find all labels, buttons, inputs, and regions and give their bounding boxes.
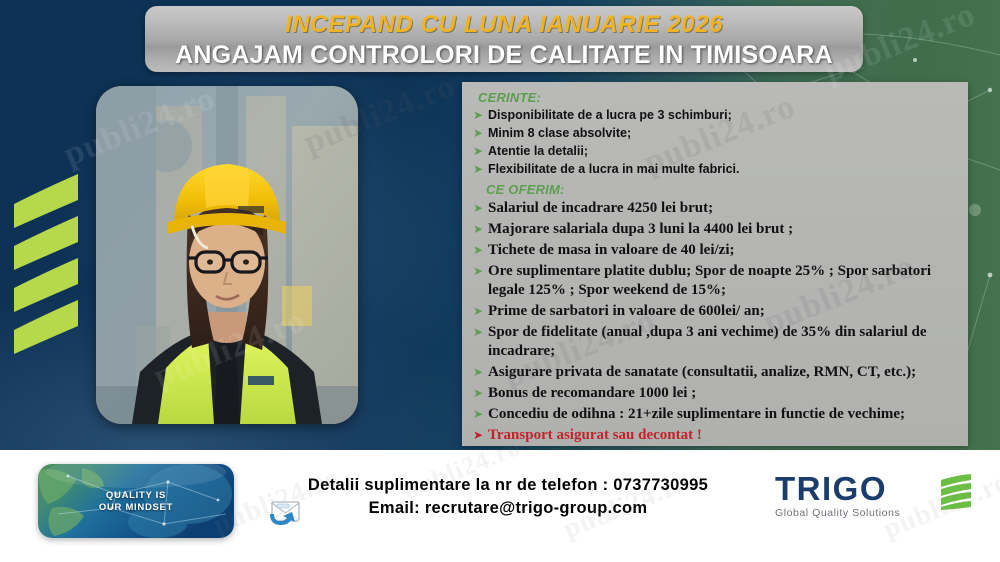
arrow-bullet-icon: ➤	[468, 405, 488, 424]
list-item: ➤ Asigurare privata de sanatate (consult…	[468, 363, 962, 382]
list-item: ➤ Flexibilitate de a lucra in mai multe …	[468, 161, 962, 178]
arrow-bullet-icon: ➤	[468, 302, 488, 321]
arrow-bullet-icon: ➤	[468, 220, 488, 239]
trigo-chevron-decoration	[8, 168, 86, 356]
arrow-bullet-icon: ➤	[468, 125, 488, 142]
requirement-text: Disponibilitate de a lucra pe 3 schimbur…	[488, 107, 962, 124]
headline-banner: INCEPAND CU LUNA IANUARIE 2026 ANGAJAM C…	[145, 6, 863, 72]
arrow-bullet-icon: ➤	[468, 262, 488, 281]
footer-bar: QUALITY IS OUR MINDSET Detalii supliment…	[0, 450, 1000, 562]
offer-text: Salariul de incadrare 4250 lei brut;	[488, 199, 962, 218]
list-item: ➤ Tichete de masa in valoare de 40 lei/z…	[468, 241, 962, 260]
list-item: ➤ Ore suplimentare platite dublu; Spor d…	[468, 262, 962, 300]
arrow-bullet-icon: ➤	[468, 143, 488, 160]
arrow-bullet-icon: ➤	[468, 426, 488, 445]
list-item-highlight: ➤ Transport asigurat sau decontat !	[468, 426, 962, 445]
banner-subtitle: INCEPAND CU LUNA IANUARIE 2026	[145, 11, 863, 39]
quality-mindset-badge: QUALITY IS OUR MINDSET	[38, 464, 234, 538]
offers-heading: CE OFERIM:	[486, 182, 962, 197]
offer-text: Asigurare privata de sanatate (consultat…	[488, 363, 962, 382]
requirement-text: Atentie la detalii;	[488, 143, 962, 160]
offer-text: Bonus de recomandare 1000 lei ;	[488, 384, 962, 403]
badge-slogan-line2: OUR MINDSET	[38, 502, 234, 514]
offer-text: Prime de sarbatori in valoare de 600lei/…	[488, 302, 962, 321]
email-icon	[268, 500, 302, 526]
list-item: ➤ Minim 8 clase absolvite;	[468, 125, 962, 142]
arrow-bullet-icon: ➤	[468, 241, 488, 260]
list-item: ➤ Spor de fidelitate (anual ,dupa 3 ani …	[468, 323, 962, 361]
banner-title: ANGAJAM CONTROLORI DE CALITATE IN TIMISO…	[145, 41, 863, 70]
arrow-bullet-icon: ➤	[468, 107, 488, 124]
arrow-bullet-icon: ➤	[468, 363, 488, 382]
offer-text: Spor de fidelitate (anual ,dupa 3 ani ve…	[488, 323, 962, 361]
contact-email-line: Email: recrutare@trigo-group.com	[258, 499, 758, 518]
arrow-bullet-icon: ➤	[468, 323, 488, 342]
contact-phone-line: Detalii suplimentare la nr de telefon : …	[258, 476, 758, 495]
list-item: ➤ Concediu de odihna : 21+zile supliment…	[468, 405, 962, 424]
offer-highlight-text: Transport asigurat sau decontat !	[488, 426, 962, 445]
trigo-logo: TRIGO Global Quality Solutions	[775, 472, 975, 534]
requirements-heading: CERINTE:	[478, 90, 962, 105]
requirement-text: Minim 8 clase absolvite;	[488, 125, 962, 142]
offer-text: Ore suplimentare platite dublu; Spor de …	[488, 262, 962, 300]
list-item: ➤ Majorare salariala dupa 3 luni la 4400…	[468, 220, 962, 239]
job-poster: INCEPAND CU LUNA IANUARIE 2026 ANGAJAM C…	[0, 0, 1000, 562]
arrow-bullet-icon: ➤	[468, 384, 488, 403]
offer-text: Concediu de odihna : 21+zile suplimentar…	[488, 405, 962, 424]
contact-block: Detalii suplimentare la nr de telefon : …	[258, 476, 758, 518]
requirement-text: Flexibilitate de a lucra in mai multe fa…	[488, 161, 962, 178]
badge-slogan: QUALITY IS OUR MINDSET	[38, 490, 234, 514]
list-item: ➤ Atentie la detalii;	[468, 143, 962, 160]
worker-photo	[96, 86, 358, 424]
arrow-bullet-icon: ➤	[468, 161, 488, 178]
list-item: ➤ Bonus de recomandare 1000 lei ;	[468, 384, 962, 403]
logo-chevron-icon	[939, 474, 973, 510]
offer-text: Tichete de masa in valoare de 40 lei/zi;	[488, 241, 962, 260]
requirements-list: ➤ Disponibilitate de a lucra pe 3 schimb…	[468, 107, 962, 178]
list-item: ➤ Disponibilitate de a lucra pe 3 schimb…	[468, 107, 962, 124]
arrow-bullet-icon: ➤	[468, 199, 488, 218]
list-item: ➤ Salariul de incadrare 4250 lei brut;	[468, 199, 962, 218]
badge-slogan-line1: QUALITY IS	[38, 490, 234, 502]
list-item: ➤ Prime de sarbatori in valoare de 600le…	[468, 302, 962, 321]
details-panel: CERINTE: ➤ Disponibilitate de a lucra pe…	[462, 82, 968, 446]
offers-list: ➤ Salariul de incadrare 4250 lei brut; ➤…	[468, 199, 962, 445]
offer-text: Majorare salariala dupa 3 luni la 4400 l…	[488, 220, 962, 239]
